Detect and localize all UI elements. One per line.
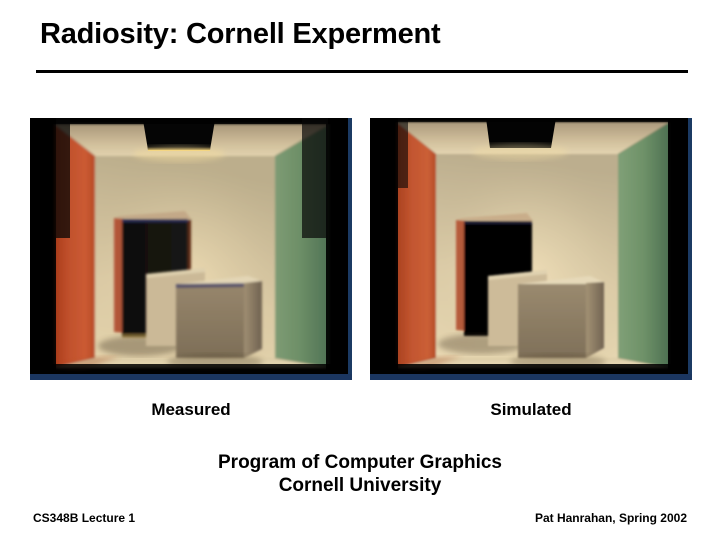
figure-simulated-border-bottom [370,374,692,380]
figure-measured[interactable] [30,118,352,380]
affiliation-line-2: Cornell University [0,474,720,497]
affiliation-block: Program of Computer Graphics Cornell Uni… [0,451,720,497]
figure-simulated-border-right [688,118,692,380]
cornell-box-radiosity-render [370,118,688,374]
footer-author-label: Pat Hanrahan, Spring 2002 [535,511,687,525]
affiliation-line-1: Program of Computer Graphics [0,451,720,474]
figure-measured-border-bottom [30,374,352,380]
title-underline-rule [36,70,688,73]
page-title: Radiosity: Cornell Experment [40,18,441,51]
figure-measured-image [30,118,348,374]
cornell-box-photograph [30,118,348,374]
footer-course-label: CS348B Lecture 1 [33,511,135,525]
figure-caption-measured: Measured [30,400,352,420]
figure-caption-simulated: Simulated [370,400,692,420]
figure-simulated-image [370,118,688,374]
figure-measured-border-right [348,118,352,380]
figure-simulated[interactable] [370,118,692,380]
